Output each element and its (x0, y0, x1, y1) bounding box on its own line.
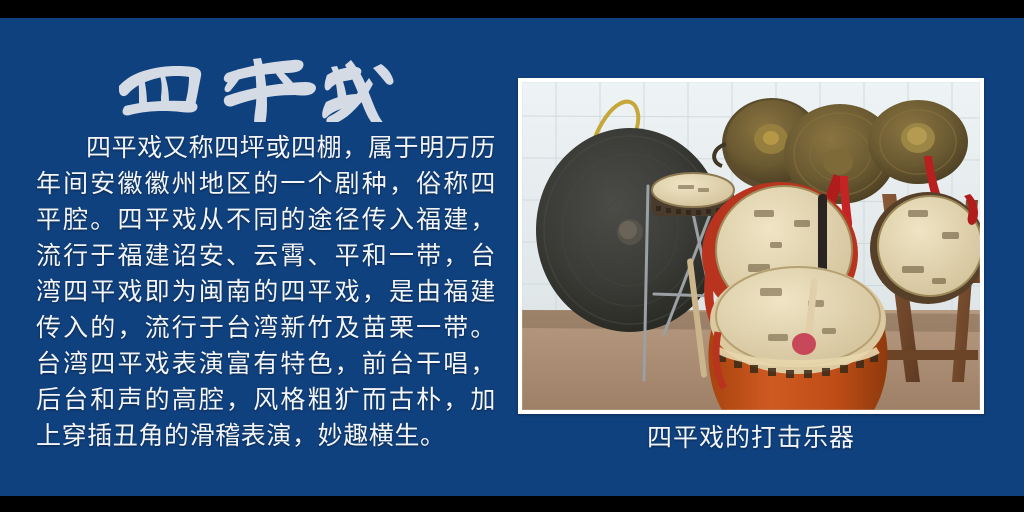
slide-stage: 四平戏又称四坪或四棚，属于明万历年间安徽徽州地区的一个剧种，俗称四平腔。四平戏从… (0, 18, 1024, 496)
letterbox-bottom (0, 496, 1024, 512)
page-title-calligraphy (105, 40, 395, 122)
instrument-photo-frame (518, 78, 984, 414)
instrument-photo (522, 82, 980, 410)
letterbox-top (0, 0, 1024, 18)
body-paragraph: 四平戏又称四坪或四棚，属于明万历年间安徽徽州地区的一个剧种，俗称四平腔。四平戏从… (36, 130, 496, 454)
photo-caption: 四平戏的打击乐器 (518, 422, 984, 454)
slide-root: 四平戏又称四坪或四棚，属于明万历年间安徽徽州地区的一个剧种，俗称四平腔。四平戏从… (0, 0, 1024, 512)
left-content-column: 四平戏又称四坪或四棚，属于明万历年间安徽徽州地区的一个剧种，俗称四平腔。四平戏从… (0, 18, 512, 496)
